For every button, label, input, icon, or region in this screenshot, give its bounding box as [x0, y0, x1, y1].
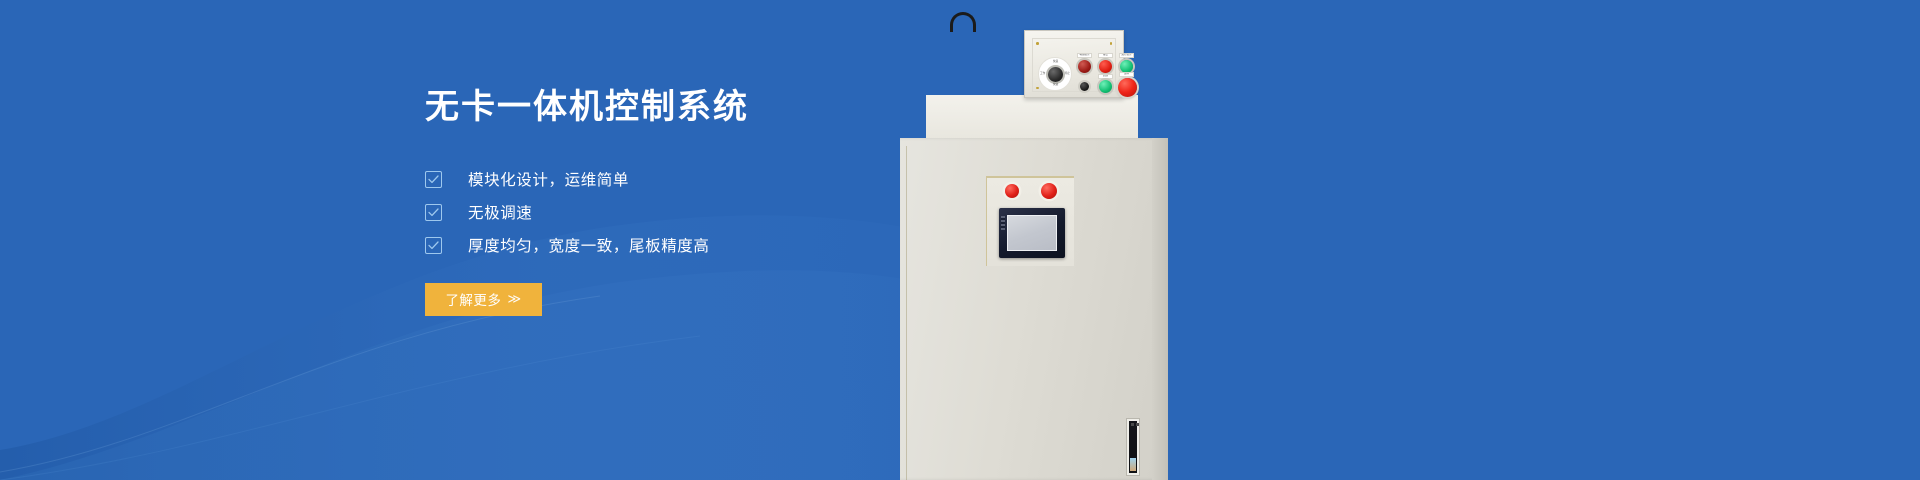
button-label-estop: 急停 — [1119, 72, 1134, 77]
checkbox-check-icon — [425, 204, 442, 221]
toggle-switch-black[interactable] — [1080, 82, 1089, 91]
door-button-red-1[interactable] — [1005, 184, 1019, 198]
checkbox-check-icon — [425, 171, 442, 188]
feature-label: 模块化设计，运维简单 — [468, 168, 629, 190]
knob-tick-bottom: 快进 — [1053, 84, 1058, 87]
feature-label: 无极调速 — [468, 201, 532, 223]
checkbox-check-icon — [425, 237, 442, 254]
lock-inner — [1129, 421, 1137, 473]
button-label-start: 启动 — [1098, 74, 1113, 79]
feature-label: 厚度均匀，宽度一致，尾板精度高 — [468, 234, 710, 256]
knob-tick-left: 工作 — [1040, 73, 1045, 76]
learn-more-label: 了解更多 — [445, 289, 501, 309]
control-box-cable — [950, 12, 976, 32]
screw-icon — [1036, 87, 1039, 90]
button-label-power: 电源指示 — [1077, 53, 1092, 58]
product-photo: 快退 工作 停止 快进 电源指示 报警 运行指示 启动 急停 — [900, 0, 1500, 480]
button-label-alarm: 报警 — [1098, 53, 1113, 58]
selector-knob[interactable] — [1048, 67, 1063, 82]
cabinet-door-seam — [906, 146, 907, 480]
control-box: 快退 工作 停止 快进 电源指示 报警 运行指示 启动 急停 — [1024, 30, 1124, 98]
indicator-red-dark[interactable] — [1078, 60, 1091, 73]
screw-icon — [1110, 42, 1113, 45]
screw-icon — [1036, 42, 1039, 45]
lock-screw-icon — [1131, 423, 1134, 426]
learn-more-button[interactable]: 了解更多 ≫ — [425, 283, 542, 316]
knob-tick-right: 停止 — [1065, 73, 1070, 76]
lock-screw-icon — [1136, 423, 1139, 426]
indicator-red[interactable] — [1099, 60, 1112, 73]
knob-tick-top: 快退 — [1053, 61, 1058, 64]
hmi-side-ports — [1001, 216, 1005, 230]
cabinet-top-cap — [926, 95, 1138, 141]
start-button-green[interactable] — [1099, 80, 1112, 93]
selector-knob-ring: 快退 工作 停止 快进 — [1038, 57, 1072, 91]
cabinet-door-lock[interactable] — [1126, 418, 1140, 476]
hmi-screen-surface[interactable] — [1007, 215, 1057, 251]
cabinet-right-edge — [1152, 138, 1168, 480]
hero-banner: 无卡一体机控制系统 模块化设计，运维简单 无极调速 — [0, 0, 1920, 480]
door-button-red-2[interactable] — [1041, 183, 1057, 199]
button-label-run: 运行指示 — [1119, 53, 1134, 58]
double-chevron-right-icon: ≫ — [507, 291, 521, 307]
hmi-touchscreen[interactable] — [999, 208, 1065, 258]
emergency-stop-button[interactable] — [1118, 78, 1137, 97]
